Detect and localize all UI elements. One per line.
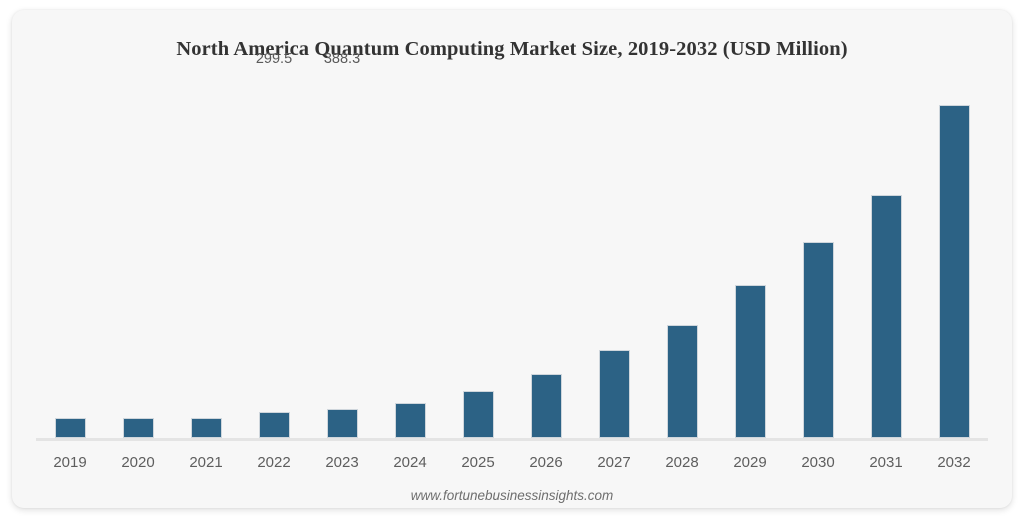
bar-slot-2028 (648, 70, 716, 438)
bar-value-2023: 388.3 (324, 52, 360, 67)
bar-slot-2030 (784, 70, 852, 438)
bar-slot-2021 (172, 70, 240, 438)
bar-2028[interactable] (667, 325, 698, 438)
bar-slot-2019 (36, 70, 104, 438)
bar-2029[interactable] (735, 285, 766, 438)
x-label-2028: 2028 (648, 450, 716, 476)
page-title: North America Quantum Computing Market S… (12, 38, 1012, 61)
x-label-2029: 2029 (716, 450, 784, 476)
bar-slot-2026 (512, 70, 580, 438)
bar-slot-2032 (920, 70, 988, 438)
x-label-2030: 2030 (784, 450, 852, 476)
bar-2030[interactable] (803, 242, 834, 438)
bar-slot-2023: 388.3 (308, 70, 376, 438)
bar-2022[interactable] (259, 412, 290, 438)
bar-2024[interactable] (395, 403, 426, 438)
x-label-2027: 2027 (580, 450, 648, 476)
bar-slot-2027 (580, 70, 648, 438)
bar-2020[interactable] (123, 418, 154, 438)
bar-slot-2031 (852, 70, 920, 438)
x-axis-line (36, 438, 988, 441)
bar-series: 299.5 388.3 (36, 70, 988, 438)
bar-slot-2024 (376, 70, 444, 438)
x-label-2024: 2024 (376, 450, 444, 476)
bar-slot-2020 (104, 70, 172, 438)
x-label-2022: 2022 (240, 450, 308, 476)
bar-slot-2022: 299.5 (240, 70, 308, 438)
bar-2019[interactable] (55, 418, 86, 438)
bar-slot-2025 (444, 70, 512, 438)
x-label-2019: 2019 (36, 450, 104, 476)
x-label-2026: 2026 (512, 450, 580, 476)
x-label-2032: 2032 (920, 450, 988, 476)
x-label-2023: 2023 (308, 450, 376, 476)
x-axis-labels: 2019 2020 2021 2022 2023 2024 2025 2026 … (36, 450, 988, 476)
x-label-2020: 2020 (104, 450, 172, 476)
source-attribution: www.fortunebusinessinsights.com (12, 488, 1012, 503)
chart-page: North America Quantum Computing Market S… (0, 0, 1024, 519)
x-label-2021: 2021 (172, 450, 240, 476)
x-label-2031: 2031 (852, 450, 920, 476)
plot-area: 299.5 388.3 (36, 70, 988, 438)
bar-value-2022: 299.5 (256, 52, 292, 67)
bar-2023[interactable] (327, 409, 358, 438)
bar-2031[interactable] (871, 195, 902, 438)
bar-2026[interactable] (531, 374, 562, 438)
bar-slot-2029 (716, 70, 784, 438)
bar-2032[interactable] (939, 105, 970, 438)
bar-2021[interactable] (191, 418, 222, 438)
x-label-2025: 2025 (444, 450, 512, 476)
bar-2027[interactable] (599, 350, 630, 438)
bar-2025[interactable] (463, 391, 494, 438)
chart-card: North America Quantum Computing Market S… (12, 10, 1012, 508)
